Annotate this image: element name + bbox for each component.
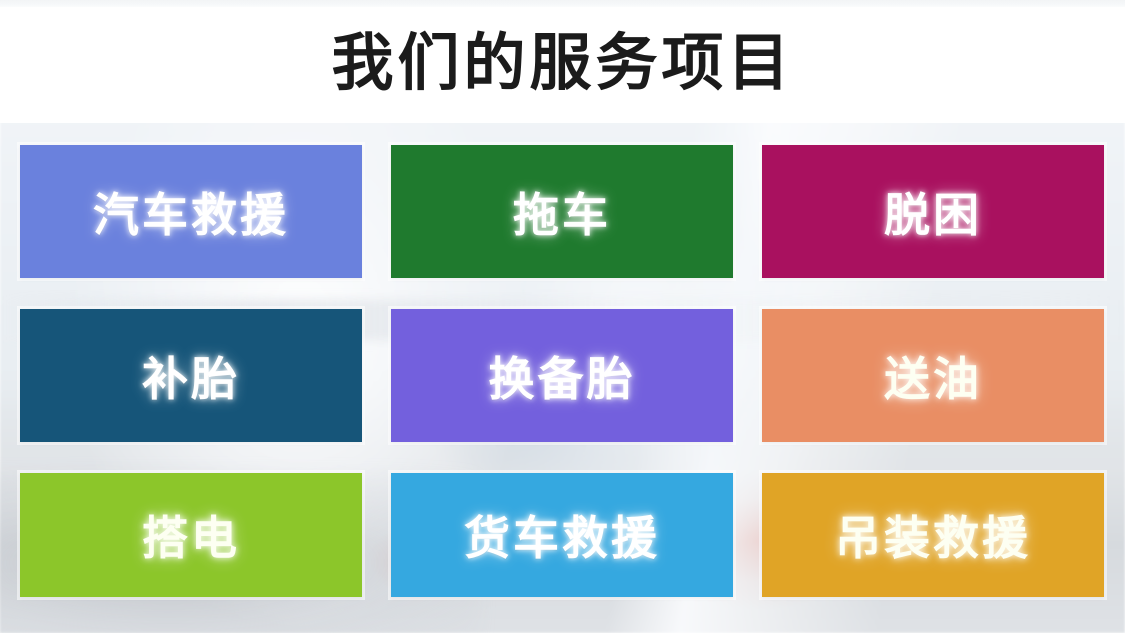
title-plate: 我们的服务项目 bbox=[0, 7, 1125, 123]
service-tile-label: 脱困 bbox=[884, 179, 982, 245]
service-tile-label: 汽车救援 bbox=[93, 179, 289, 245]
service-tile-label: 搭电 bbox=[142, 502, 240, 568]
service-tile-grid: 汽车救援 拖车 脱困 补胎 换备胎 送油 搭电 货车救援 吊装救援 bbox=[20, 145, 1104, 597]
service-tile-car-rescue[interactable]: 汽车救援 bbox=[20, 145, 362, 278]
service-tile-label: 补胎 bbox=[142, 343, 240, 409]
service-tile-crane-rescue[interactable]: 吊装救援 bbox=[762, 473, 1104, 597]
service-tile-label: 换备胎 bbox=[489, 343, 636, 409]
service-tile-label: 送油 bbox=[884, 343, 982, 409]
service-tile-label: 拖车 bbox=[513, 179, 611, 245]
service-tile-tire-repair[interactable]: 补胎 bbox=[20, 309, 362, 442]
page-title: 我们的服务项目 bbox=[0, 21, 1125, 107]
service-tile-spare-tire-change[interactable]: 换备胎 bbox=[391, 309, 733, 442]
service-tile-label: 货车救援 bbox=[464, 502, 660, 568]
service-tile-jump-start[interactable]: 搭电 bbox=[20, 473, 362, 597]
service-tile-fuel-delivery[interactable]: 送油 bbox=[762, 309, 1104, 442]
service-tile-towing[interactable]: 拖车 bbox=[391, 145, 733, 278]
service-items-poster: 我们的服务项目 汽车救援 拖车 脱困 补胎 换备胎 送油 搭电 货车救援 吊装救… bbox=[0, 0, 1125, 633]
top-edge-band bbox=[0, 0, 1125, 7]
service-tile-label: 吊装救援 bbox=[835, 502, 1031, 568]
service-tile-truck-rescue[interactable]: 货车救援 bbox=[391, 473, 733, 597]
service-tile-extrication[interactable]: 脱困 bbox=[762, 145, 1104, 278]
